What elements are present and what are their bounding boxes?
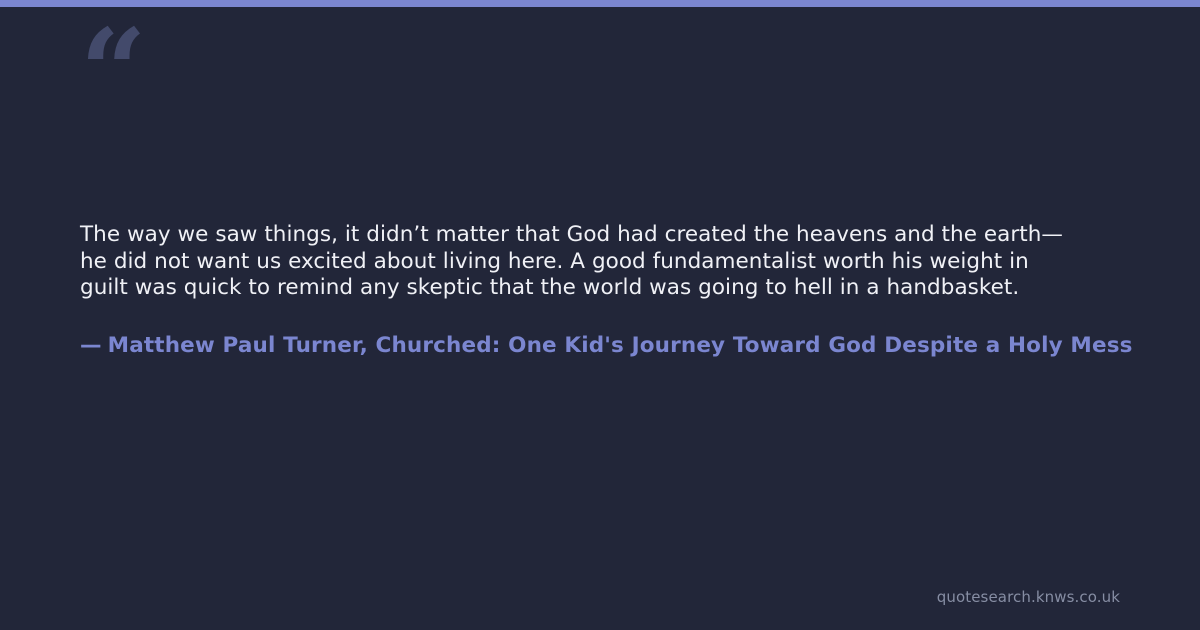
attribution-dash: — (80, 333, 102, 358)
attribution-row: —Matthew Paul Turner, Churched: One Kid'… (80, 332, 1200, 360)
quote-text: The way we saw things, it didn’t matter … (80, 222, 1065, 302)
site-footer-url: quotesearch.knws.co.uk (937, 588, 1120, 606)
quote-content: The way we saw things, it didn’t matter … (80, 222, 1200, 360)
top-accent-bar (0, 0, 1200, 7)
quote-card: “ The way we saw things, it didn’t matte… (0, 0, 1200, 630)
quote-mark-icon: “ (80, 14, 145, 130)
quote-attribution: —Matthew Paul Turner, Churched: One Kid'… (80, 332, 1133, 360)
attribution-source: Matthew Paul Turner, Churched: One Kid's… (108, 333, 1133, 358)
